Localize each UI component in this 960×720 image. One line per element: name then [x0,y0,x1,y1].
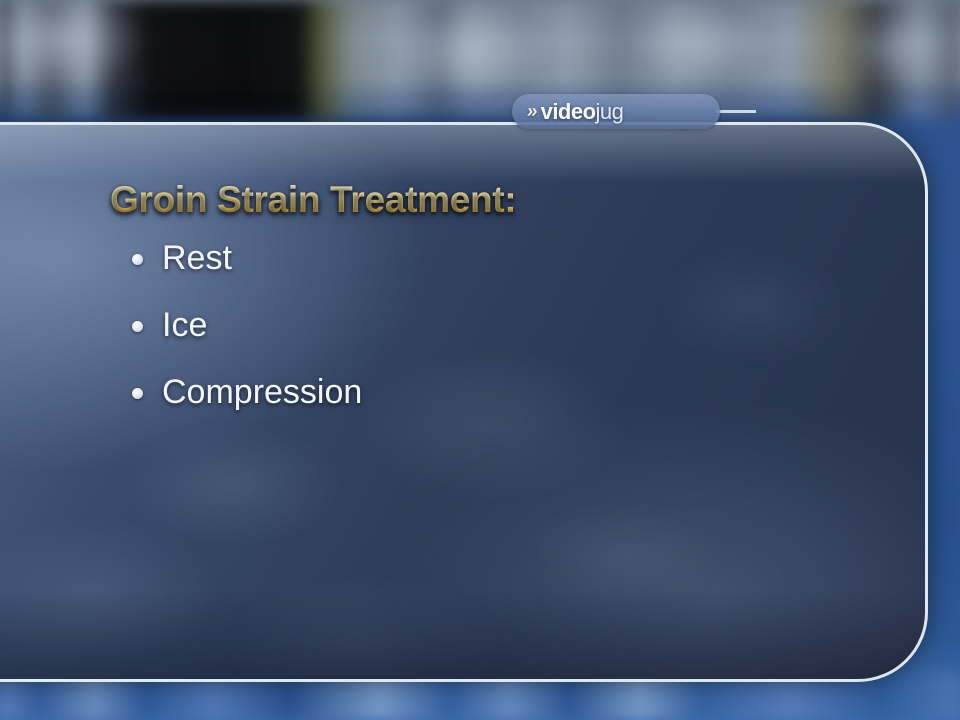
bullet-dot-icon [132,254,143,265]
bullet-dot-icon [132,388,143,399]
background-highlight-smears [0,0,960,104]
list-item: Ice [162,308,810,342]
logo-wordmark: videojug [541,101,624,123]
panel-bottom-shade [0,589,925,679]
video-frame: » videojug Groin Strain Treatment: Rest … [0,0,960,720]
videojug-logo[interactable]: » videojug [512,94,720,129]
list-item-label: Ice [162,306,207,344]
logo-connector-line [716,110,756,113]
list-item: Rest [162,241,810,275]
treatment-list: Rest Ice Compression [110,241,810,409]
list-item-label: Compression [162,373,362,411]
logo-wordmark-primary: video [541,99,596,124]
panel-top-gloss [0,125,925,183]
slide-content: Groin Strain Treatment: Rest Ice Compres… [110,180,810,442]
bullet-dot-icon [132,321,143,332]
list-item-label: Rest [162,239,232,277]
list-item: Compression [162,375,810,409]
logo-wordmark-secondary: jug [596,99,624,124]
page-title: Groin Strain Treatment: [110,180,810,221]
double-chevron-icon: » [526,102,537,121]
